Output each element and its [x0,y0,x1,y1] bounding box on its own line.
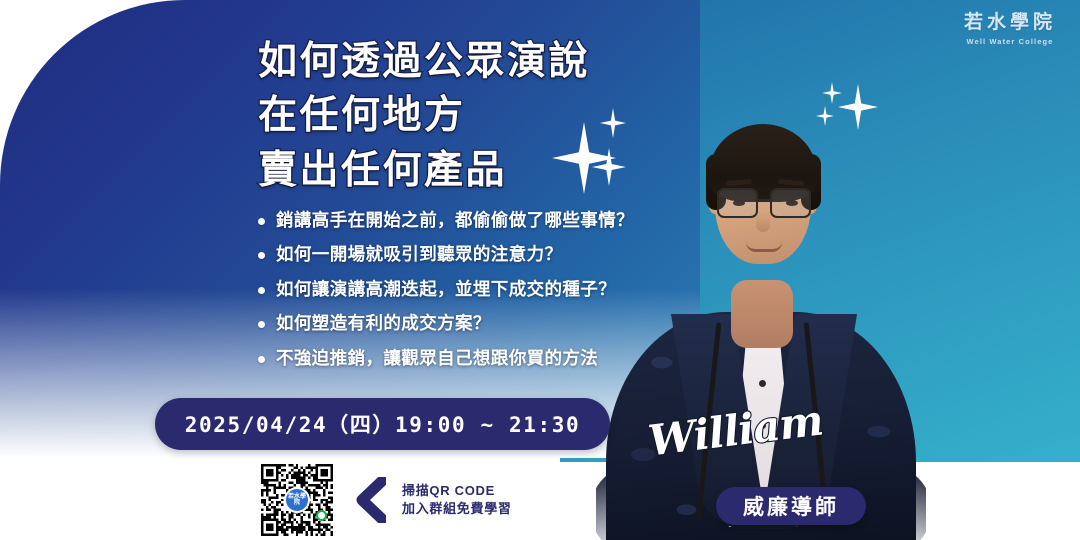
list-item: 如何讓演講高潮迭起，並埋下成交的種子？ [258,278,678,300]
list-item: 不強迫推銷，讓觀眾自己想跟你買的方法 [258,347,678,369]
title-line-2: 在任何地方 [258,90,678,142]
brand-logo-en: Well Water College [964,37,1056,46]
brand-logo-cn: 若水學院 [964,12,1056,34]
list-item: 如何一開場就吸引到聽眾的注意力？ [258,243,678,265]
list-item-label: 如何讓演講高潮迭起，並埋下成交的種子？ [276,278,616,300]
qr-center-logo: 若水學院 [284,487,310,513]
page-title: 如何透過公眾演說 在任何地方 賣出任何產品 [258,36,678,197]
title-line-1: 如何透過公眾演說 [258,36,678,88]
list-item-label: 如何塑造有利的成交方案？ [276,312,491,334]
glasses-lens-right [770,188,811,218]
list-item-label: 如何一開場就吸引到聽眾的注意力？ [276,243,562,265]
list-item-label: 銷講高手在開始之前，都偷偷做了哪些事情？ [276,209,634,231]
bullet-dot-icon [258,218,265,225]
benefit-list: 銷講高手在開始之前，都偷偷做了哪些事情？ 如何一開場就吸引到聽眾的注意力？ 如何… [258,209,678,381]
bullet-dot-icon [258,287,265,294]
qr-signup-block[interactable]: 若水學院 掃描QR CODE 加入群組免費學習 [258,461,512,539]
list-item: 銷講高手在開始之前，都偷偷做了哪些事情？ [258,209,678,231]
chevron-left-icon [352,477,386,523]
speaker-mouth [746,242,782,252]
speaker-name-badge: 威廉導師 [716,487,866,525]
qr-instruction-line-1: 掃描QR CODE [402,482,512,500]
bullet-dot-icon [258,321,265,328]
event-datetime-badge: 2025/04/24（四）19:00 ~ 21:30 [155,398,610,450]
qr-instruction-text: 掃描QR CODE 加入群組免費學習 [402,482,512,519]
brand-logo: 若水學院 Well Water College [964,12,1056,46]
title-line-3: 賣出任何產品 [258,145,678,197]
list-item: 如何塑造有利的成交方案？ [258,312,678,334]
speaker-nose [756,214,770,232]
speaker-neck [731,280,793,348]
webinar-poster: 若水學院 Well Water College 如何透過公眾演說 在任何地方 賣… [0,0,1080,540]
bullet-dot-icon [258,252,265,259]
qr-line-badge-icon [316,510,327,521]
bullet-dot-icon [258,356,265,363]
event-datetime-label: 2025/04/24（四）19:00 ~ 21:30 [185,409,580,439]
qr-code-image[interactable]: 若水學院 [258,461,336,539]
glasses-lens-left [717,188,758,218]
shirt-button [759,380,766,387]
qr-instruction-line-2: 加入群組免費學習 [402,500,512,518]
glasses-bridge [758,199,770,202]
list-item-label: 不強迫推銷，讓觀眾自己想跟你買的方法 [276,347,598,369]
speaker-name-label: 威廉導師 [743,491,839,521]
